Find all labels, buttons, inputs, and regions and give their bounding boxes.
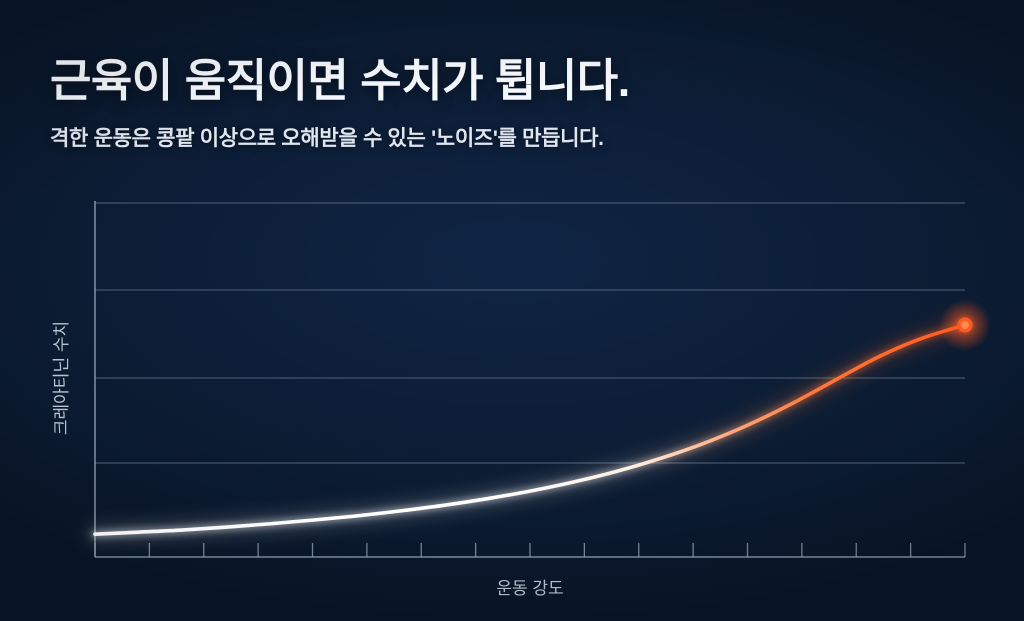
creatinine-curve-group	[95, 325, 965, 534]
curve-inner-glow	[95, 325, 965, 534]
x-axis-label: 운동 강도	[496, 579, 563, 598]
chart-container: 크레아티닌 수치 운동 강도	[0, 0, 1024, 621]
x-axis-ticks	[95, 543, 965, 557]
curve-outer-glow	[95, 325, 965, 534]
slide-root: 근육이 움직이면 수치가 튑니다. 격한 운동은 콩팥 이상으로 오해받을 수 …	[0, 0, 1024, 621]
y-gridlines	[95, 203, 965, 463]
y-axis-label: 크레아티닌 수치	[52, 321, 71, 435]
curve-line	[95, 325, 965, 534]
curve-endpoint-marker	[939, 299, 991, 351]
creatinine-exercise-line-chart: 크레아티닌 수치 운동 강도	[0, 0, 1024, 621]
endpoint-dot-core	[961, 321, 969, 329]
